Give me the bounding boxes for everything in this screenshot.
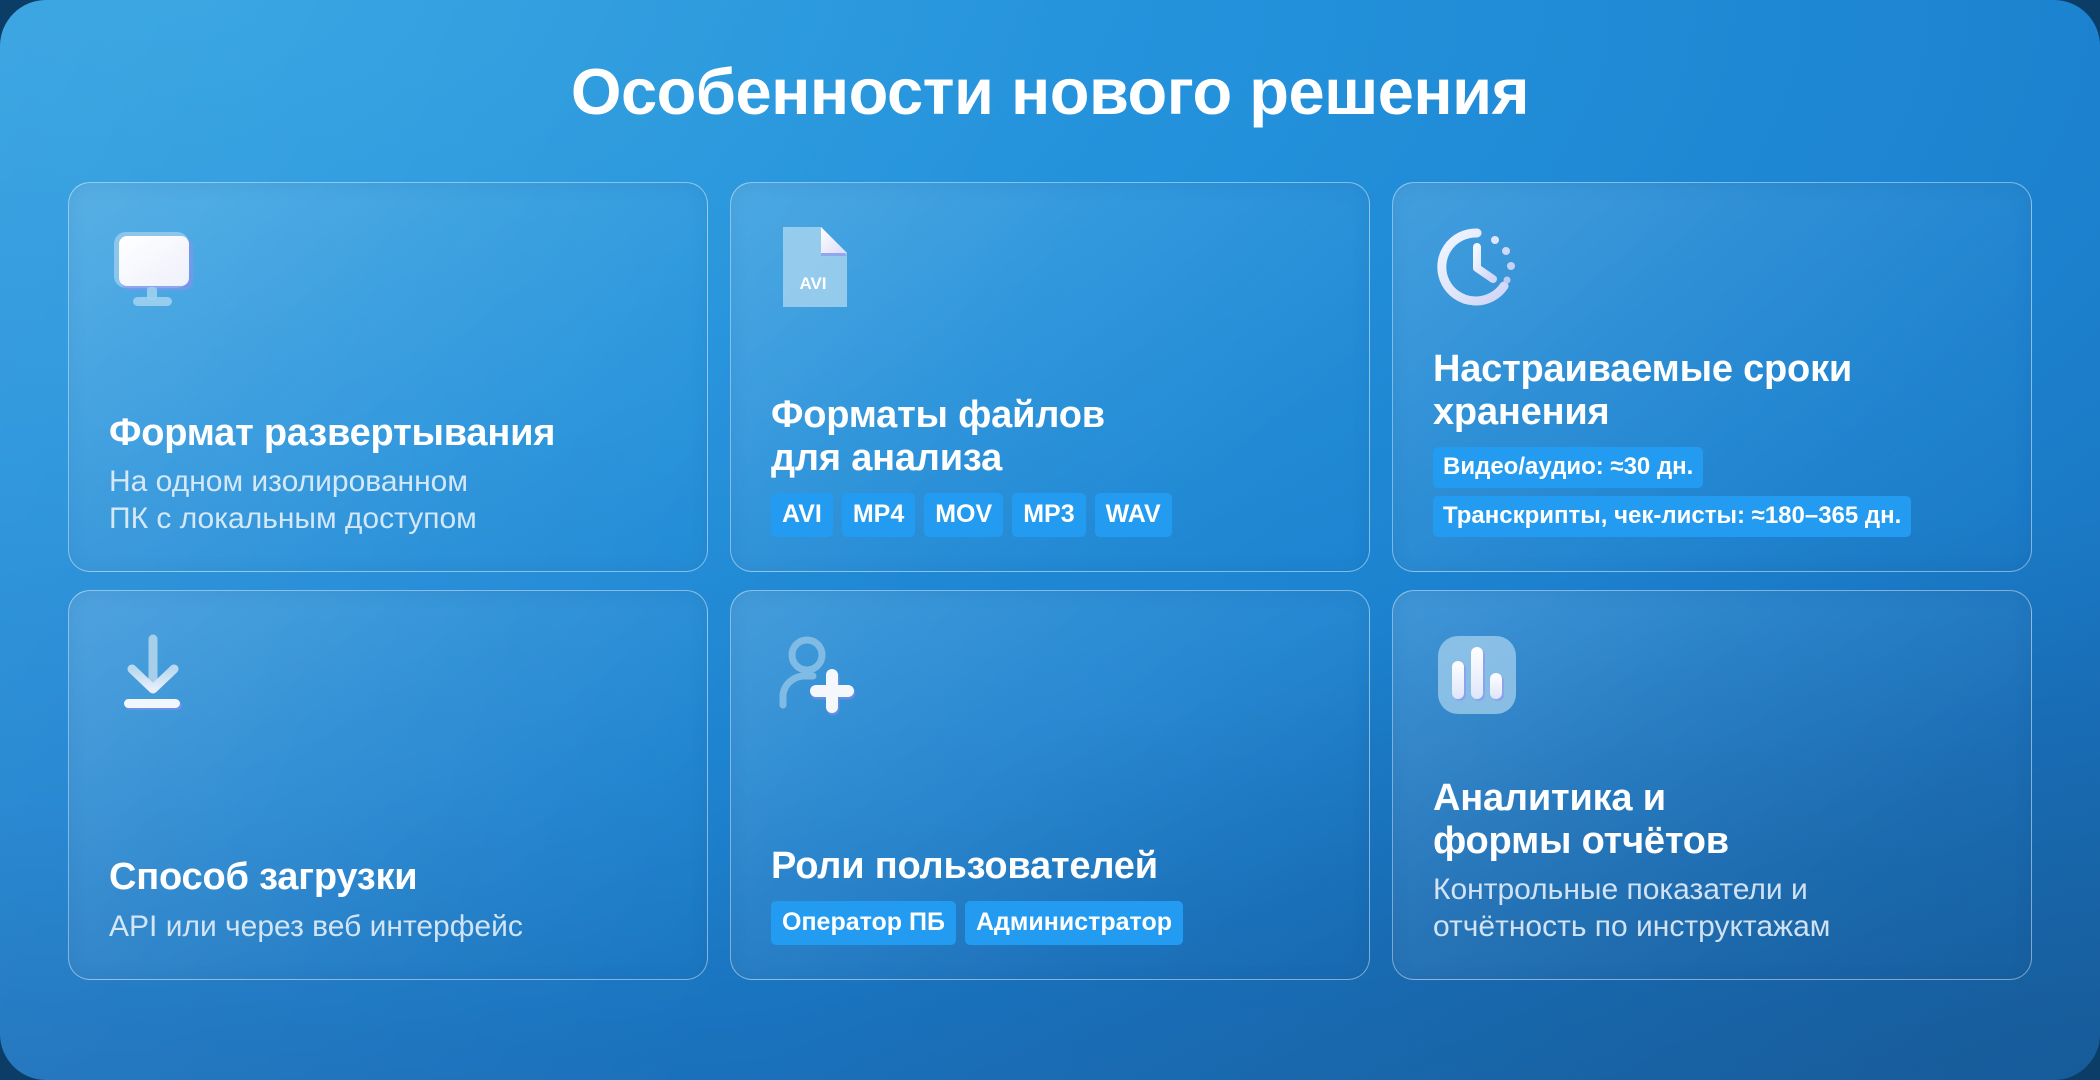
clock-icon: [1433, 223, 1521, 311]
badge-mov[interactable]: MOV: [924, 493, 1003, 537]
badge-administrator[interactable]: Администратор: [965, 901, 1183, 945]
user-role-badges: Оператор ПБ Администратор: [771, 901, 1329, 945]
download-icon: [109, 631, 197, 719]
badge-avi[interactable]: AVI: [771, 493, 833, 537]
feature-card-grid: Формат развертывания На одном изолирован…: [0, 126, 2100, 980]
file-avi-icon: AVI: [771, 223, 859, 311]
feature-card-user-roles[interactable]: Роли пользователей Оператор ПБ Администр…: [730, 590, 1370, 980]
page-title: Особенности нового решения: [0, 0, 2100, 126]
card-spacer: [1433, 725, 1991, 777]
slide-root: Особенности нового решения: [0, 0, 2100, 1080]
feature-card-upload-method[interactable]: Способ загрузки API или через веб интерф…: [68, 590, 708, 980]
card-title: Форматы файлов для анализа: [771, 394, 1329, 479]
card-title: Аналитика и формы отчётов: [1433, 777, 1991, 862]
badge-operator[interactable]: Оператор ПБ: [771, 901, 956, 945]
badge-wav[interactable]: WAV: [1095, 493, 1172, 537]
card-subtitle: Контрольные показатели и отчётность по и…: [1433, 872, 1991, 945]
card-spacer: [771, 725, 1329, 844]
badge-transcripts-retention[interactable]: Транскрипты, чек-листы: ≈180–365 дн.: [1433, 496, 1911, 537]
bar-chart-icon: [1433, 631, 1521, 719]
badge-mp3[interactable]: MP3: [1012, 493, 1085, 537]
feature-card-file-formats[interactable]: AVI Форматы файлов для анализа AVI MP4 M…: [730, 182, 1370, 572]
card-title: Способ загрузки: [109, 856, 667, 899]
feature-card-analytics[interactable]: Аналитика и формы отчётов Контрольные по…: [1392, 590, 2032, 980]
card-subtitle: На одном изолированном ПК с локальным до…: [109, 464, 667, 537]
user-plus-icon: [771, 631, 859, 719]
card-title: Формат развертывания: [109, 412, 667, 455]
file-format-badges: AVI MP4 MOV MP3 WAV: [771, 493, 1329, 537]
badge-mp4[interactable]: MP4: [842, 493, 915, 537]
card-spacer: [109, 317, 667, 411]
svg-text:AVI: AVI: [799, 274, 826, 293]
card-spacer: [771, 317, 1329, 394]
retention-badges: Видео/аудио: ≈30 дн. Транскрипты, чек-ли…: [1433, 447, 1991, 537]
monitor-icon: [109, 223, 197, 311]
feature-card-retention[interactable]: Настраиваемые сроки хранения Видео/аудио…: [1392, 182, 2032, 572]
card-spacer: [1433, 317, 1991, 348]
card-subtitle: API или через веб интерфейс: [109, 909, 667, 946]
feature-card-deployment[interactable]: Формат развертывания На одном изолирован…: [68, 182, 708, 572]
card-spacer: [109, 725, 667, 856]
card-title: Настраиваемые сроки хранения: [1433, 348, 1991, 433]
card-title: Роли пользователей: [771, 845, 1329, 888]
badge-video-audio-retention[interactable]: Видео/аудио: ≈30 дн.: [1433, 447, 1703, 488]
